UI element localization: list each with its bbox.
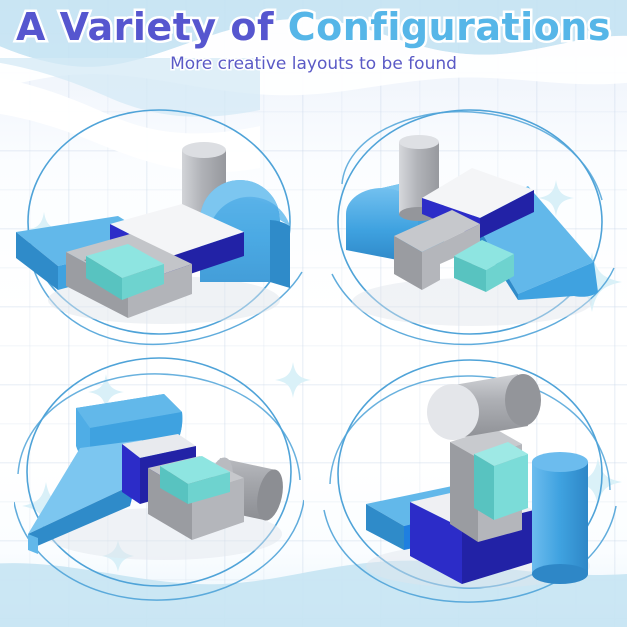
piece-blue-cylinder bbox=[532, 452, 588, 584]
title-part-primary: A Variety of bbox=[16, 5, 288, 49]
page-subtitle: More creative layouts to be found bbox=[0, 54, 627, 74]
panel-configuration-1: Configuration layout one bbox=[14, 104, 304, 350]
panel-configuration-2: Configuration layout two bbox=[322, 104, 617, 350]
panel-configuration-3: Configuration layout three bbox=[14, 354, 304, 604]
panel-configuration-4: Configuration layout four bbox=[322, 354, 617, 604]
panel-4-scene bbox=[322, 354, 617, 604]
title-part-secondary: Configurations bbox=[288, 5, 611, 49]
header: A Variety of Configurations More creativ… bbox=[0, 8, 627, 74]
piece-teal-insert bbox=[474, 442, 528, 520]
panel-3-scene bbox=[14, 354, 304, 604]
panel-2-scene bbox=[322, 104, 617, 350]
panel-1-scene bbox=[14, 104, 304, 350]
page-title: A Variety of Configurations bbox=[0, 8, 627, 48]
infographic-stage: A Variety of Configurations More creativ… bbox=[0, 0, 627, 627]
piece-grey-cylinder-lying bbox=[427, 374, 541, 440]
